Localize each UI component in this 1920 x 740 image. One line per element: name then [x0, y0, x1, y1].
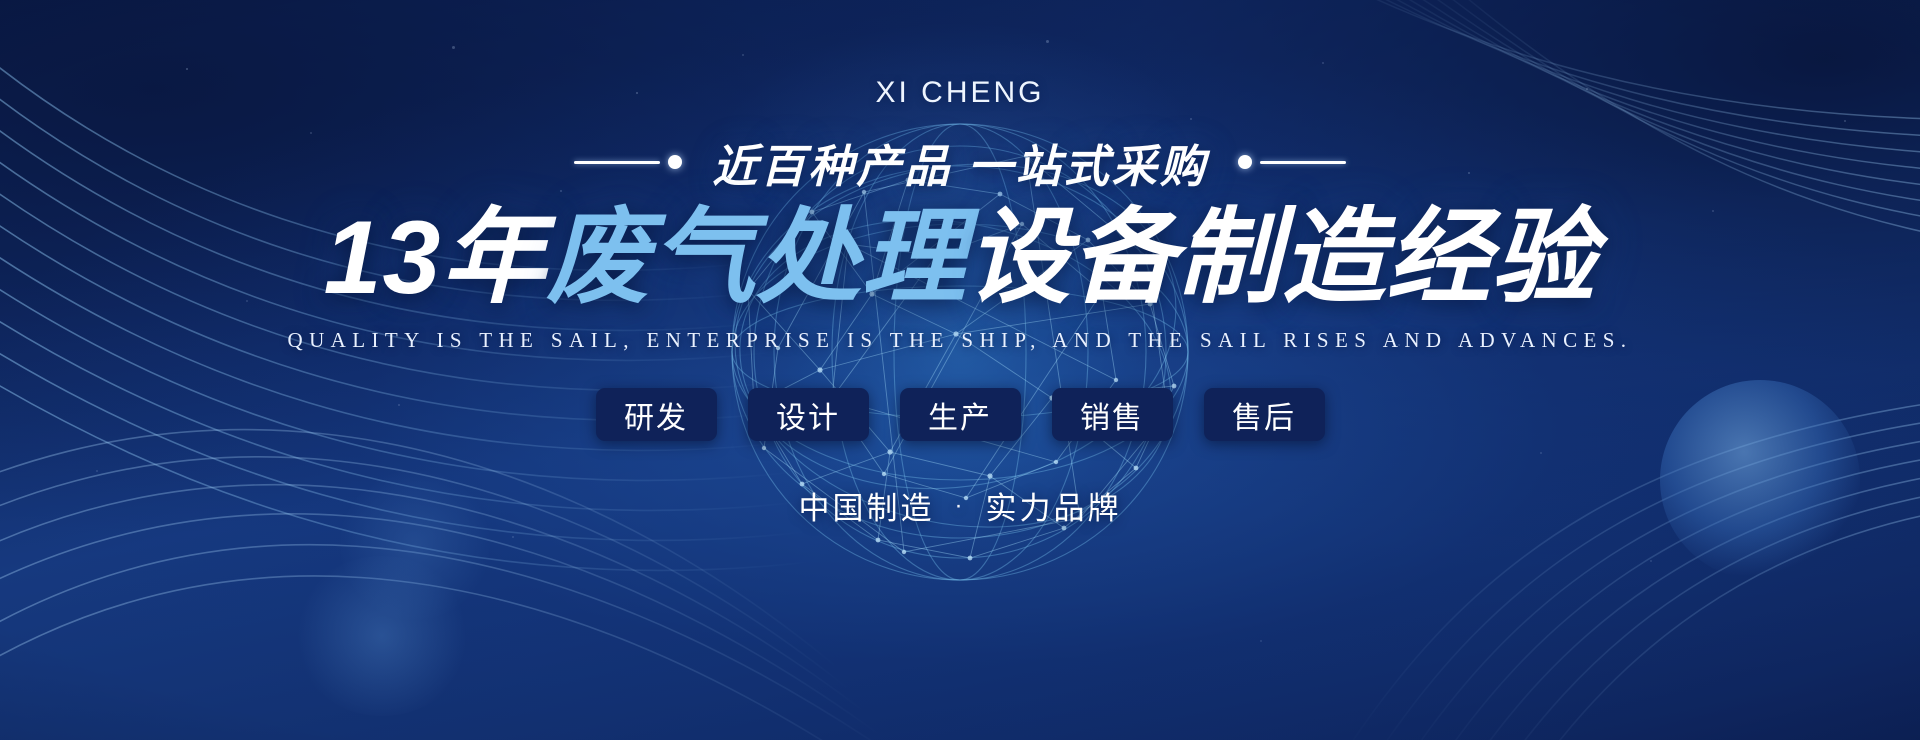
service-tag-aftersales[interactable]: 售后 — [1204, 388, 1325, 441]
service-tag-production[interactable]: 生产 — [900, 388, 1021, 441]
service-tag-list: 研发 设计 生产 销售 售后 — [596, 388, 1325, 441]
banner-content: XI CHENG 近百种产品 一站式采购 13年废气处理设备制造经验 QUALI… — [0, 0, 1920, 740]
brand-name-en: XI CHENG — [875, 78, 1044, 108]
subtitle-row: 近百种产品 一站式采购 — [574, 134, 1346, 190]
footer-separator-icon: · — [955, 492, 966, 520]
banner-headline: 13年废气处理设备制造经验 — [324, 202, 1597, 314]
banner-tagline-en: QUALITY IS THE SAIL, ENTERPRISE IS THE S… — [288, 328, 1633, 353]
service-tag-sales[interactable]: 销售 — [1052, 388, 1173, 441]
service-tag-rd[interactable]: 研发 — [596, 388, 717, 441]
right-rule-line — [1260, 161, 1346, 164]
banner-subtitle: 近百种产品 一站式采购 — [712, 130, 1208, 195]
right-rule-decoration — [1238, 155, 1346, 169]
headline-suffix: 设备制造经验 — [966, 200, 1596, 316]
headline-years: 13年 — [324, 200, 547, 316]
hero-banner: XI CHENG 近百种产品 一站式采购 13年废气处理设备制造经验 QUALI… — [0, 0, 1920, 740]
headline-highlight: 废气处理 — [546, 200, 966, 316]
footer-left-text: 中国制造 — [799, 483, 935, 528]
footer-right-text: 实力品牌 — [986, 483, 1122, 528]
left-rule-decoration — [574, 155, 682, 169]
service-tag-design[interactable]: 设计 — [748, 388, 869, 441]
left-rule-dot — [668, 155, 682, 169]
left-rule-line — [574, 161, 660, 164]
right-rule-dot — [1238, 155, 1252, 169]
banner-footer: 中国制造 · 实力品牌 — [799, 483, 1122, 528]
